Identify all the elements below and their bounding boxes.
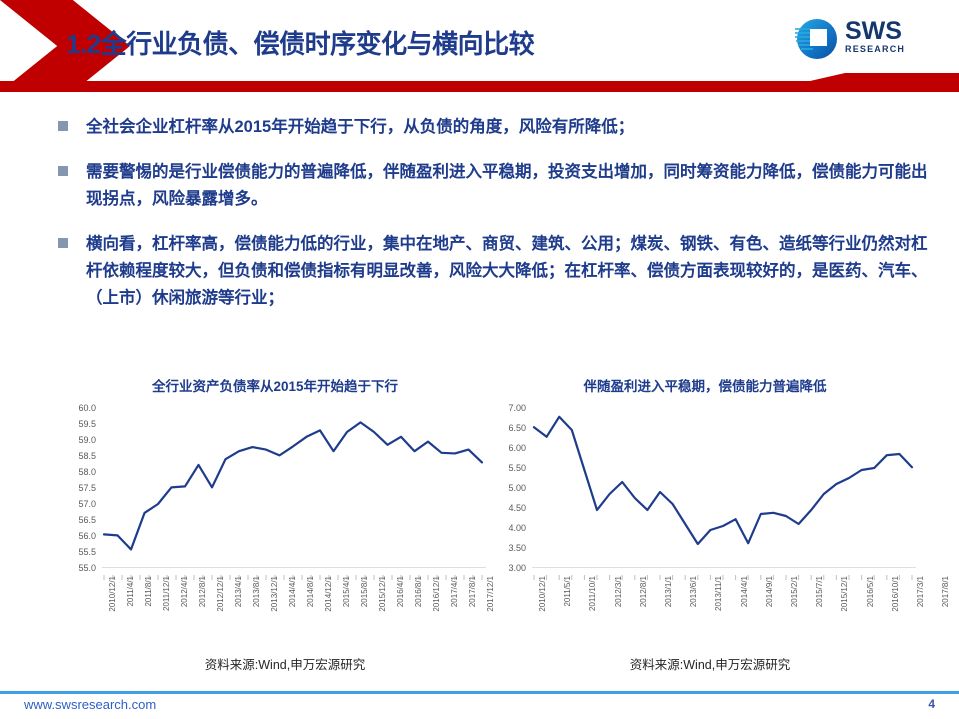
x-tick-label: 2014/4/1 xyxy=(288,576,297,607)
x-axis-ticks xyxy=(532,568,916,574)
x-tick-label: 2013/1/1 xyxy=(664,576,673,607)
header-red-band xyxy=(0,73,959,92)
bullet-item: 全社会企业杠杆率从2015年开始趋于下行，从负债的角度，风险有所降低； xyxy=(58,114,938,141)
page-number: 4 xyxy=(928,697,935,711)
square-bullet-icon xyxy=(58,166,68,176)
page-title: 1.2全行业负债、偿债时序变化与横向比较 xyxy=(66,24,534,61)
y-tick-label: 59.0 xyxy=(78,435,96,445)
x-tick-label: 2016/10/1 xyxy=(891,576,900,612)
chart-svg-container xyxy=(532,408,916,568)
x-tick-label: 2011/12/1 xyxy=(162,576,171,611)
x-tick-label: 2017/3/1 xyxy=(916,576,925,607)
y-tick-label: 55.0 xyxy=(78,563,96,573)
x-tick-label: 2011/5/1 xyxy=(563,576,572,607)
x-tick-label: 2013/11/1 xyxy=(714,576,723,611)
line-series xyxy=(102,408,486,568)
x-tick-label: 2017/4/1 xyxy=(450,576,459,607)
page-title-text: 全行业负债、偿债时序变化与横向比较 xyxy=(101,29,535,59)
y-tick-label: 60.0 xyxy=(78,403,96,413)
chart-panel-asset-liability-ratio: 全行业资产负债率从2015年开始趋于下行 55.055.556.056.557.… xyxy=(60,378,490,678)
y-tick-label: 56.5 xyxy=(78,515,96,525)
line-series xyxy=(532,408,916,568)
bullet-text: 全社会企业杠杆率从2015年开始趋于下行，从负债的角度，风险有所降低； xyxy=(86,114,634,141)
y-tick-label: 58.5 xyxy=(78,451,96,461)
y-tick-label: 6.50 xyxy=(508,423,526,433)
x-tick-label: 2010/12/1 xyxy=(108,576,117,612)
chart-source-note: 资料来源:Wind,申万宏源研究 xyxy=(490,654,920,673)
y-tick-label: 57.0 xyxy=(78,499,96,509)
logo-research-text: RESEARCH xyxy=(845,44,905,55)
x-tick-label: 2014/9/1 xyxy=(765,576,774,607)
slide-header: 1.2全行业负债、偿债时序变化与横向比较 SWS xyxy=(0,0,959,92)
x-tick-label: 2015/12/1 xyxy=(840,576,849,612)
x-tick-label: 2016/5/1 xyxy=(866,576,875,607)
chart-panel-debt-service-capacity: 伴随盈利进入平稳期，偿债能力普遍降低 3.003.504.004.505.005… xyxy=(490,378,920,678)
x-tick-label: 2014/4/1 xyxy=(740,576,749,607)
x-axis-ticks xyxy=(102,568,486,574)
bullet-item: 需要警惕的是行业偿债能力的普遍降低，伴随盈利进入平稳期，投资支出增加，同时筹资能… xyxy=(58,159,938,213)
x-tick-label: 2016/12/1 xyxy=(432,576,441,612)
y-tick-label: 6.00 xyxy=(508,443,526,453)
x-tick-label: 2015/4/1 xyxy=(342,576,351,607)
y-tick-label: 59.5 xyxy=(78,419,96,429)
y-tick-label: 3.50 xyxy=(508,543,526,553)
y-tick-label: 4.50 xyxy=(508,503,526,513)
footer-website-link[interactable]: www.swsresearch.com xyxy=(24,697,156,712)
x-tick-label: 2014/8/1 xyxy=(306,576,315,607)
x-tick-label: 2017/8/1 xyxy=(468,576,477,607)
x-tick-label: 2015/12/1 xyxy=(378,576,387,612)
x-tick-label: 2012/3/1 xyxy=(614,576,623,607)
y-tick-label: 3.00 xyxy=(508,563,526,573)
x-tick-label: 2011/4/1 xyxy=(126,576,135,607)
bullet-text: 需要警惕的是行业偿债能力的普遍降低，伴随盈利进入平稳期，投资支出增加，同时筹资能… xyxy=(86,159,938,213)
bullet-item: 横向看，杠杆率高，偿债能力低的行业，集中在地产、商贸、建筑、公用；煤炭、钢铁、有… xyxy=(58,231,938,312)
x-tick-label: 2013/12/1 xyxy=(270,576,279,612)
bullet-text: 横向看，杠杆率高，偿债能力低的行业，集中在地产、商贸、建筑、公用；煤炭、钢铁、有… xyxy=(86,231,938,312)
x-tick-label: 2012/12/1 xyxy=(216,576,225,612)
sws-circle-icon xyxy=(793,16,839,62)
footer-divider xyxy=(0,691,959,694)
x-tick-label: 2014/12/1 xyxy=(324,576,333,612)
x-tick-label: 2013/4/1 xyxy=(234,576,243,607)
y-tick-label: 57.5 xyxy=(78,483,96,493)
y-tick-label: 5.50 xyxy=(508,463,526,473)
bullet-list: 全社会企业杠杆率从2015年开始趋于下行，从负债的角度，风险有所降低； 需要警惕… xyxy=(58,114,938,330)
page-title-number: 1.2 xyxy=(66,29,101,59)
logo-wordmark: SWS RESEARCH xyxy=(845,18,905,55)
x-tick-label: 2013/8/1 xyxy=(252,576,261,607)
y-axis-labels: 3.003.504.004.505.005.506.006.507.00 xyxy=(490,408,530,568)
x-tick-label: 2015/8/1 xyxy=(360,576,369,607)
x-tick-label: 2013/6/1 xyxy=(689,576,698,607)
x-tick-label: 2012/8/1 xyxy=(198,576,207,607)
y-tick-label: 5.00 xyxy=(508,483,526,493)
x-tick-label: 2016/8/1 xyxy=(414,576,423,607)
sws-research-logo: SWS RESEARCH xyxy=(793,14,943,66)
chart-title: 全行业资产负债率从2015年开始趋于下行 xyxy=(60,378,490,396)
x-tick-label: 2011/8/1 xyxy=(144,576,153,607)
chart-source-note: 资料来源:Wind,申万宏源研究 xyxy=(60,654,490,673)
square-bullet-icon xyxy=(58,121,68,131)
x-axis-labels: 2010/12/12011/5/12011/10/12012/3/12012/8… xyxy=(532,576,916,638)
x-tick-label: 2017/8/1 xyxy=(941,576,950,607)
x-tick-label: 2015/2/1 xyxy=(790,576,799,607)
x-axis-labels: 2010/12/12011/4/12011/8/12011/12/12012/4… xyxy=(102,576,486,638)
chart-title: 伴随盈利进入平稳期，偿债能力普遍降低 xyxy=(490,378,920,396)
y-tick-label: 56.0 xyxy=(78,531,96,541)
x-tick-label: 2015/7/1 xyxy=(815,576,824,607)
chart-plot-area: 3.003.504.004.505.005.506.006.507.00 201… xyxy=(490,408,920,638)
y-tick-label: 4.00 xyxy=(508,523,526,533)
x-tick-label: 2012/4/1 xyxy=(180,576,189,607)
y-tick-label: 58.0 xyxy=(78,467,96,477)
y-axis-labels: 55.055.556.056.557.057.558.058.559.059.5… xyxy=(60,408,100,568)
x-tick-label: 2012/8/1 xyxy=(639,576,648,607)
y-tick-label: 55.5 xyxy=(78,547,96,557)
y-tick-label: 7.00 xyxy=(508,403,526,413)
x-tick-label: 2016/4/1 xyxy=(396,576,405,607)
charts-row: 全行业资产负债率从2015年开始趋于下行 55.055.556.056.557.… xyxy=(0,378,959,678)
chart-svg-container xyxy=(102,408,486,568)
x-tick-label: 2011/10/1 xyxy=(588,576,597,611)
square-bullet-icon xyxy=(58,238,68,248)
chart-plot-area: 55.055.556.056.557.057.558.058.559.059.5… xyxy=(60,408,490,638)
x-tick-label: 2010/12/1 xyxy=(538,576,547,612)
logo-sws-text: SWS xyxy=(845,18,905,44)
